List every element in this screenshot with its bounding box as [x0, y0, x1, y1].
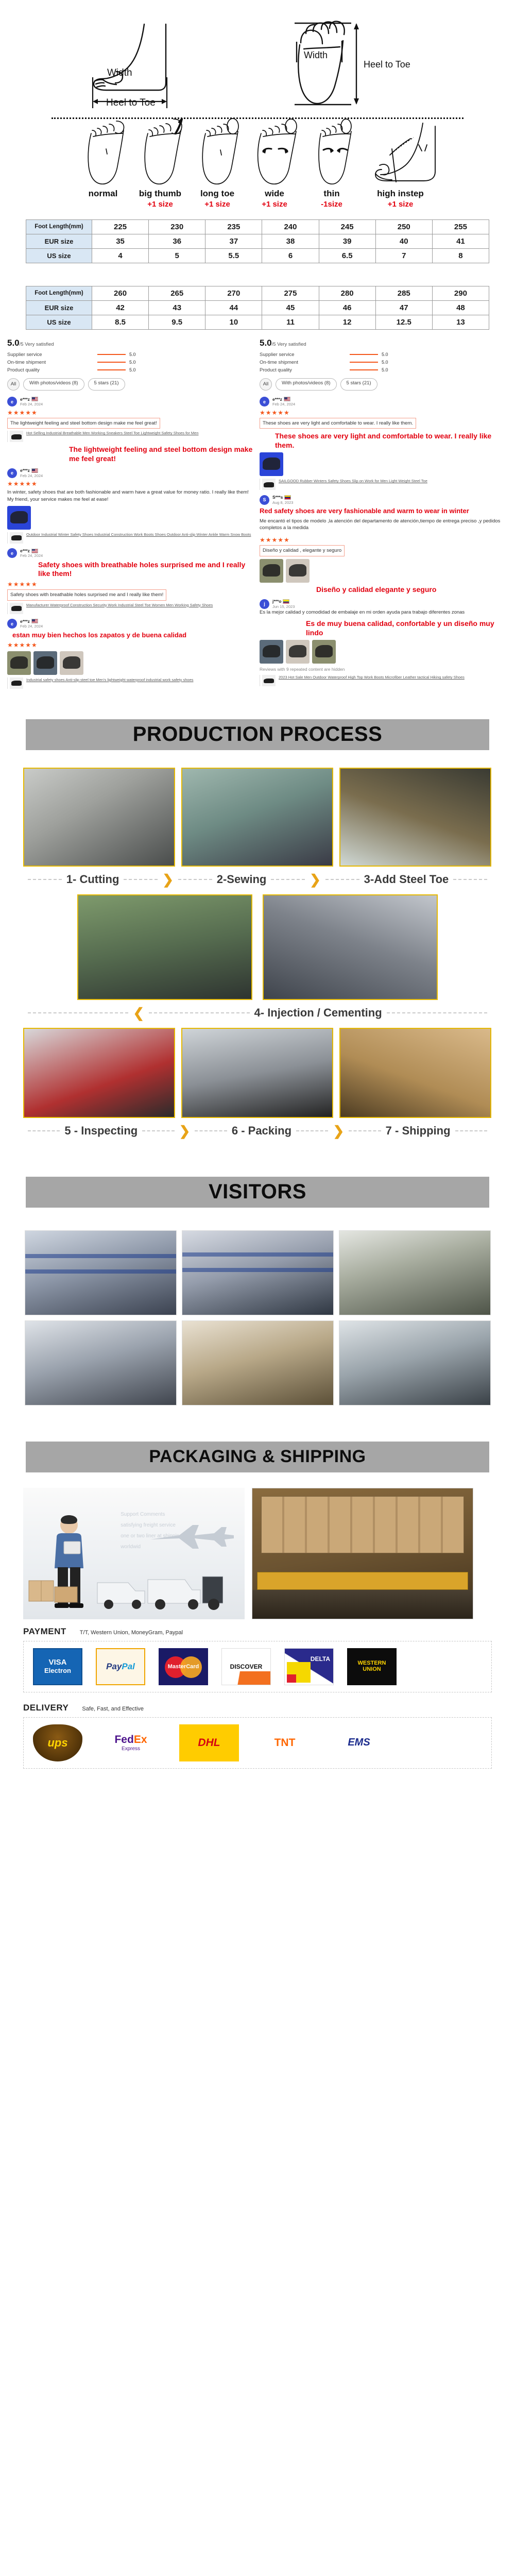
- cartons-icon: [28, 1570, 84, 1612]
- foot-type-adjust: +1 size: [191, 200, 245, 210]
- delivery-title: DELIVERY: [23, 1703, 68, 1713]
- reviewer-name-text: e***z: [20, 548, 30, 554]
- review-item: S S***s Aug 8, 2023 Red safety shoes are…: [260, 495, 507, 532]
- union-text: UNION: [363, 1667, 381, 1673]
- production-image-cementing: [263, 894, 438, 1000]
- foot-figures: [21, 118, 494, 188]
- flag-us-icon: [31, 468, 38, 473]
- foot-thin-icon: [305, 118, 359, 188]
- mastercard-text: MasterCard: [168, 1664, 199, 1670]
- step-label-inspecting: 5 - Inspecting: [64, 1124, 138, 1138]
- avatar: e: [7, 619, 17, 629]
- cell: 245: [319, 219, 375, 234]
- express-text: Express: [122, 1746, 140, 1752]
- production-steps-row-2: ❮ 4- Injection / Cementing: [23, 1006, 492, 1020]
- avatar: S: [260, 495, 269, 505]
- avatar: j: [260, 599, 269, 609]
- flag-us-icon: [31, 619, 38, 623]
- product-title[interactable]: Industrial safety shoes Anti-slip steel …: [26, 677, 194, 683]
- rating-metric: Product quality 5.0: [260, 367, 507, 373]
- chevron-right-icon: ❯: [310, 873, 321, 886]
- packaging-images-row: Support Comments satisfying freight serv…: [0, 1488, 515, 1619]
- cell: 4: [92, 248, 149, 263]
- payment-logos: VISA Electron PayPal MasterCard DISCOVER…: [23, 1641, 492, 1692]
- flag-us-icon: [284, 397, 290, 401]
- payment-header: PAYMENT T/T, Western Union, MoneyGram, P…: [23, 1626, 492, 1637]
- packaging-section: Support Comments satisfying freight serv…: [0, 1488, 515, 1769]
- production-steps-row-1: 1- Cutting ❯ 2-Sewing ❯ 3-Add Steel Toe: [23, 873, 492, 886]
- cell: 38: [262, 234, 319, 248]
- divider: [296, 1130, 328, 1131]
- visitors-section: [0, 1230, 515, 1405]
- divider: [142, 1130, 174, 1131]
- ems-logo-icon: EMS: [331, 1724, 387, 1761]
- cell: 13: [432, 315, 489, 329]
- row-header: Foot Length(mm): [26, 286, 92, 300]
- cell: 37: [205, 234, 262, 248]
- review-user: e e***z Feb 24, 2024: [7, 397, 254, 407]
- foot-type-name: thin: [305, 189, 359, 199]
- review-text: These shoes are very light and comfortab…: [260, 418, 416, 429]
- production-process-banner: PRODUCTION PROCESS: [26, 719, 489, 750]
- visitors-banner: VISITORS: [26, 1177, 489, 1208]
- cell: 39: [319, 234, 375, 248]
- cell: 46: [319, 300, 375, 315]
- production-image-injection: [77, 894, 252, 1000]
- reviewed-product-link[interactable]: SAILGOOD Rubber Winters Safety Shoes Sli…: [260, 479, 507, 490]
- hidden-reviews-note: Reviews with 9 repeated content are hidd…: [260, 667, 507, 672]
- foot-type-chart: normal big thumb long toe wide thin high…: [0, 117, 515, 210]
- review-item: e e***z Feb 24, 2024 Safety shoes with b…: [7, 548, 254, 614]
- metric-value: 5.0: [129, 360, 136, 365]
- review-date: Aug 8, 2023: [272, 500, 293, 505]
- review-user: e e***z Feb 24, 2024: [7, 619, 254, 629]
- payment-section: PAYMENT T/T, Western Union, MoneyGram, P…: [0, 1626, 515, 1692]
- review-item: e e***z Feb 24, 2024 estan muy bien hech…: [7, 619, 254, 689]
- divider: [149, 1012, 249, 1013]
- rating-metric: Supplier service 5.0: [260, 352, 507, 358]
- rating-score-suffix: /5 Very satisfied: [272, 342, 306, 347]
- cell: 270: [205, 286, 262, 300]
- delivery-logos: ups FedEx Express DHL TNT EMS: [23, 1717, 492, 1769]
- production-steps-row-3: 5 - Inspecting ❯ 6 - Packing ❯ 7 - Shipp…: [23, 1124, 492, 1138]
- rating-score: 5.0: [260, 338, 272, 348]
- review-date: Jun 15, 2023: [272, 604, 295, 609]
- foot-type-name: long toe: [191, 189, 245, 199]
- cell: 260: [92, 286, 149, 300]
- metric-value: 5.0: [382, 367, 388, 372]
- divider: [349, 1130, 381, 1131]
- cell: 10: [205, 315, 262, 329]
- shipping-illustration: Support Comments satisfying freight serv…: [23, 1488, 245, 1619]
- review-photo[interactable]: [33, 651, 57, 675]
- row-header: US size: [26, 315, 92, 329]
- cell: 43: [149, 300, 205, 315]
- cell: 280: [319, 286, 375, 300]
- visa-text: VISA: [48, 1658, 66, 1667]
- rating-metric: Product quality 5.0: [7, 367, 254, 373]
- review-photo[interactable]: [286, 559, 310, 583]
- dhl-text: DHL: [198, 1737, 220, 1749]
- cell: 8: [432, 248, 489, 263]
- product-thumb-icon: [10, 431, 23, 442]
- step-label-shipping: 7 - Shipping: [386, 1124, 451, 1138]
- rating-metrics: Supplier service 5.0 On-time shipment 5.…: [260, 352, 507, 373]
- metric-label: On-time shipment: [7, 360, 97, 365]
- reviewer-name-text: e***z: [20, 397, 30, 402]
- reviewer-name-text: j***o: [272, 599, 281, 604]
- step-label-cutting: 1- Cutting: [66, 873, 119, 886]
- table-row: Foot Length(mm) 225 230 235 240 245 250 …: [26, 219, 489, 234]
- tnt-text: TNT: [274, 1737, 296, 1749]
- production-images-row-3: [23, 1028, 492, 1118]
- review-photo[interactable]: [7, 651, 31, 675]
- divider: [178, 879, 212, 880]
- reviews-column-left: 5.0/5 Very satisfied Supplier service 5.…: [7, 338, 254, 693]
- review-stars: ★★★★★: [260, 536, 507, 544]
- size-table-1: Foot Length(mm) 225 230 235 240 245 250 …: [26, 219, 489, 263]
- size-table-2: Foot Length(mm) 260 265 270 275 280 285 …: [26, 286, 489, 330]
- avatar: e: [7, 468, 17, 478]
- pay-text: Pay: [106, 1662, 122, 1672]
- product-title[interactable]: Hot Selling Industrial Breathable Men Wo…: [26, 431, 199, 436]
- cell: 5.5: [205, 248, 262, 263]
- ems-text: EMS: [348, 1737, 370, 1749]
- metric-bar: [97, 354, 126, 355]
- foot-big-thumb-icon: [133, 118, 187, 188]
- review-photo[interactable]: [260, 559, 283, 583]
- cell: 47: [375, 300, 432, 315]
- chevron-right-icon: ❯: [333, 1124, 344, 1138]
- visitor-photo: [339, 1320, 491, 1405]
- loaded-container-photo: [252, 1488, 473, 1619]
- review-date: Feb 24, 2024: [20, 553, 43, 558]
- divider: [387, 1012, 487, 1013]
- rating-summary: 5.0/5 Very satisfied: [260, 338, 507, 348]
- production-image-inspecting: [23, 1028, 175, 1118]
- reviewer-name: e***z: [20, 548, 43, 554]
- review-date: Feb 24, 2024: [20, 624, 43, 629]
- metric-value: 5.0: [382, 352, 388, 357]
- step-label-packing: 6 - Packing: [232, 1124, 291, 1138]
- cell: 42: [92, 300, 149, 315]
- production-image-sewing: [181, 768, 333, 867]
- review-text: Diseño y calidad , elegante y seguro: [260, 545, 345, 556]
- production-process-section: 1- Cutting ❯ 2-Sewing ❯ 3-Add Steel Toe …: [0, 768, 515, 1138]
- delta-text: DELTA: [311, 1655, 330, 1663]
- production-images-row-2: [23, 894, 492, 1000]
- visitors-title: VISITORS: [209, 1180, 306, 1204]
- reviewer-name-text: e***z: [272, 397, 282, 402]
- review-date: Feb 24, 2024: [20, 402, 43, 406]
- foot-type-names: normal big thumb long toe wide thin high…: [21, 189, 494, 199]
- foot-measure-diagram: Width Heel to Toe: [0, 10, 515, 113]
- delivery-subtitle: Safe, Fast, and Effective: [82, 1706, 144, 1712]
- review-date: Feb 24, 2024: [272, 402, 295, 406]
- cell: 225: [92, 219, 149, 234]
- flag-ecuador-icon: [283, 599, 289, 604]
- metric-bar: [97, 362, 126, 363]
- production-images-row-1: [23, 768, 492, 867]
- reviewed-product-link[interactable]: Outdoor Industrial Winter Safety Shoes I…: [7, 532, 254, 544]
- top-foot-diagram: Width Heel to Toe: [288, 18, 443, 113]
- divider: [28, 1012, 128, 1013]
- cell: 36: [149, 234, 205, 248]
- tnt-logo-icon: TNT: [256, 1724, 313, 1761]
- fed-text: Fed: [114, 1734, 133, 1745]
- review-item: j j***o Jun 15, 2023 Es la mejor calidad…: [260, 599, 507, 686]
- cell: 275: [262, 286, 319, 300]
- reviewer-name: e***z: [20, 619, 43, 624]
- review-stars: ★★★★★: [7, 480, 254, 487]
- review-photo[interactable]: [312, 640, 336, 664]
- review-callout: These shoes are very light and comfortab…: [275, 432, 507, 450]
- cell: 255: [432, 219, 489, 234]
- delivery-vans-icon: [94, 1571, 223, 1612]
- product-detail-page: Width Heel to Toe: [0, 0, 515, 1800]
- review-photos: [260, 452, 507, 476]
- divider: [325, 879, 359, 880]
- product-thumb-icon: [262, 479, 276, 490]
- ex-text: Ex: [134, 1734, 147, 1745]
- ups-text: ups: [47, 1736, 67, 1750]
- review-photos: [7, 651, 254, 675]
- foot-type-name: normal: [76, 189, 130, 199]
- product-thumb-icon: [10, 532, 23, 544]
- metric-value: 5.0: [129, 367, 136, 372]
- electron-text: Electron: [44, 1667, 71, 1674]
- foot-type-name: high instep: [362, 189, 439, 199]
- table-row: US size 8.5 9.5 10 11 12 12.5 13: [26, 315, 489, 329]
- ups-logo-icon: ups: [33, 1724, 82, 1761]
- review-callout: Es de muy buena calidad, confortable y u…: [306, 619, 507, 637]
- flag-us-icon: [31, 397, 38, 401]
- ghost-line: Support Comments: [121, 1509, 182, 1520]
- review-user: S S***s Aug 8, 2023: [260, 495, 507, 505]
- review-callout: Diseño y calidad elegante y seguro: [316, 585, 507, 595]
- reviewer-name-text: S***s: [272, 495, 283, 500]
- cell: 45: [262, 300, 319, 315]
- cell: 48: [432, 300, 489, 315]
- review-text: Me encantó el tipos de modelo ,la atenci…: [260, 518, 507, 532]
- visitor-photo: [182, 1320, 334, 1405]
- rating-score-suffix: /5 Very satisfied: [20, 342, 54, 347]
- review-photo[interactable]: [60, 651, 83, 675]
- production-image-shipping: [339, 1028, 491, 1118]
- metric-bar: [350, 362, 378, 363]
- visa-electron-logo-icon: VISA Electron: [33, 1648, 82, 1685]
- review-callout: Red safety shoes are very fashionable an…: [260, 507, 507, 515]
- table-row: US size 4 5 5.5 6 6.5 7 8: [26, 248, 489, 263]
- product-title[interactable]: Manufacturer Waterproof Construction Sec…: [26, 603, 213, 608]
- heel-to-toe-label: Heel to Toe: [106, 97, 156, 108]
- metric-label: On-time shipment: [260, 360, 350, 365]
- product-title[interactable]: 2023 Hot Sale Men Outdoor Waterproof Hig…: [279, 675, 465, 681]
- chevron-right-icon: ❯: [162, 873, 174, 886]
- review-callout: Safety shoes with breathable holes surpr…: [38, 561, 254, 579]
- reviewer-name: j***o: [272, 599, 295, 604]
- filter-5-stars[interactable]: 5 stars (21): [88, 378, 125, 391]
- cell: 12: [319, 315, 375, 329]
- review-callout: The lightweight feeling and steel bottom…: [69, 445, 254, 463]
- review-user: j j***o Jun 15, 2023: [260, 599, 507, 609]
- product-title[interactable]: SAILGOOD Rubber Winters Safety Shoes Sli…: [279, 479, 427, 484]
- fedex-logo-icon: FedEx Express: [100, 1724, 162, 1761]
- review-photo[interactable]: [260, 640, 283, 664]
- cell: 8.5: [92, 315, 149, 329]
- dhl-logo-icon: DHL: [179, 1724, 239, 1761]
- packaging-title: PACKAGING & SHIPPING: [149, 1447, 366, 1467]
- review-stars: ★★★★★: [7, 581, 254, 588]
- payment-subtitle: T/T, Western Union, MoneyGram, Paypal: [80, 1630, 183, 1636]
- foot-normal-icon: [76, 118, 130, 188]
- review-item: ★★★★★ Diseño y calidad , elegante y segu…: [260, 536, 507, 594]
- cell: 5: [149, 248, 205, 263]
- reviewed-product-link[interactable]: Hot Selling Industrial Breathable Men Wo…: [7, 431, 254, 442]
- cell: 12.5: [375, 315, 432, 329]
- product-title[interactable]: Outdoor Industrial Winter Safety Shoes I…: [26, 532, 251, 538]
- avatar: e: [260, 397, 269, 406]
- cell: 240: [262, 219, 319, 234]
- review-photos: [260, 640, 507, 664]
- step-label-sewing: 2-Sewing: [217, 873, 267, 886]
- cell: 6: [262, 248, 319, 263]
- cell: 290: [432, 286, 489, 300]
- cell: 250: [375, 219, 432, 234]
- cell: 44: [205, 300, 262, 315]
- cell: 9.5: [149, 315, 205, 329]
- delivery-header: DELIVERY Safe, Fast, and Effective: [23, 1703, 492, 1713]
- filter-5-stars[interactable]: 5 stars (21): [340, 378, 377, 391]
- product-thumb-icon: [262, 675, 276, 686]
- step-label-injection-cementing: 4- Injection / Cementing: [254, 1006, 382, 1020]
- review-item: e e***z Feb 24, 2024 ★★★★★ These shoes a…: [260, 397, 507, 490]
- reviews-column-right: 5.0/5 Very satisfied Supplier service 5.…: [260, 338, 507, 693]
- review-date: Feb 24, 2024: [20, 473, 43, 478]
- row-header: US size: [26, 248, 92, 263]
- metric-value: 5.0: [382, 360, 388, 365]
- review-stars: ★★★★★: [7, 641, 254, 649]
- metric-label: Product quality: [260, 367, 350, 373]
- production-image-steel-toe: [339, 768, 491, 867]
- delta-logo-icon: DELTA: [284, 1648, 334, 1685]
- avatar: e: [7, 548, 17, 558]
- review-photo[interactable]: [260, 452, 283, 476]
- filter-all[interactable]: All: [7, 378, 20, 391]
- flag-us-icon: [31, 549, 38, 553]
- visitor-photo: [182, 1230, 334, 1315]
- reviews-section: 5.0/5 Very satisfied Supplier service 5.…: [0, 330, 515, 699]
- product-thumb-icon: [10, 677, 23, 689]
- filter-all[interactable]: All: [260, 378, 272, 391]
- divider: [455, 1130, 487, 1131]
- rating-metrics: Supplier service 5.0 On-time shipment 5.…: [7, 352, 254, 373]
- visitor-photo: [25, 1230, 177, 1315]
- cell: 235: [205, 219, 262, 234]
- step-label-add-steel-toe: 3-Add Steel Toe: [364, 873, 449, 886]
- review-photos: [260, 559, 507, 583]
- review-photos: [7, 506, 254, 530]
- discover-text: DISCOVER: [230, 1663, 263, 1670]
- rating-metric: Supplier service 5.0: [7, 352, 254, 358]
- cell: 40: [375, 234, 432, 248]
- foot-long-toe-icon: [191, 118, 245, 188]
- foot-type-name: big thumb: [133, 189, 187, 199]
- chevron-left-icon: ❮: [133, 1006, 144, 1020]
- filter-with-photos[interactable]: With photos/videos (8): [23, 378, 84, 391]
- metric-label: Supplier service: [260, 352, 350, 358]
- review-photo[interactable]: [7, 506, 31, 530]
- avatar: e: [7, 397, 17, 406]
- review-photo[interactable]: [286, 640, 310, 664]
- metric-label: Product quality: [7, 367, 97, 373]
- heel-to-toe-label-top: Heel to Toe: [364, 59, 410, 70]
- review-user: e e***z Feb 24, 2024: [7, 548, 254, 558]
- reviewed-product-link[interactable]: Industrial safety shoes Anti-slip steel …: [7, 677, 254, 689]
- foot-type-adjust: +1 size: [248, 200, 302, 210]
- width-label: Width: [107, 67, 132, 78]
- review-callout: estan muy bien hechos los zapatos y de b…: [12, 631, 254, 639]
- divider: [271, 879, 305, 880]
- reviewer-name: e***z: [20, 468, 43, 473]
- divider: [124, 879, 158, 880]
- delivery-section: DELIVERY Safe, Fast, and Effective ups F…: [0, 1703, 515, 1769]
- cell: 41: [432, 234, 489, 248]
- review-filters: All With photos/videos (8) 5 stars (21): [260, 378, 507, 391]
- flag-venezuela-icon: [284, 495, 291, 500]
- size-guide-section: Width Heel to Toe: [0, 0, 515, 330]
- production-image-packing: [181, 1028, 333, 1118]
- review-filters: All With photos/videos (8) 5 stars (21): [7, 378, 254, 391]
- metric-bar: [350, 369, 378, 371]
- reviewed-product-link[interactable]: 2023 Hot Sale Men Outdoor Waterproof Hig…: [260, 675, 507, 686]
- paypal-logo-icon: PayPal: [96, 1648, 145, 1685]
- review-item: e e***z Feb 24, 2024 ★★★★★ The lightweig…: [7, 397, 254, 464]
- metric-label: Supplier service: [7, 352, 97, 358]
- pal-text: Pal: [122, 1662, 135, 1672]
- cell: 7: [375, 248, 432, 263]
- payment-title: PAYMENT: [23, 1626, 66, 1637]
- divider: [28, 879, 62, 880]
- divider: [453, 879, 487, 880]
- rating-metric: On-time shipment 5.0: [7, 360, 254, 365]
- reviewer-name-text: e***z: [20, 619, 30, 624]
- reviewer-name-text: e***z: [20, 468, 30, 473]
- rating-metric: On-time shipment 5.0: [260, 360, 507, 365]
- foot-type-adjustments: +1 size +1 size +1 size -1size +1 size: [21, 200, 494, 210]
- foot-wide-icon: [248, 118, 302, 188]
- foot-type-adjust: -1size: [305, 200, 359, 210]
- review-text: Es la mejor calidad y comodidad de embal…: [260, 609, 507, 616]
- visitors-photo-grid: [0, 1230, 515, 1405]
- row-header: EUR size: [26, 234, 92, 248]
- production-process-title: PRODUCTION PROCESS: [133, 723, 383, 746]
- mastercard-logo-icon: MasterCard: [159, 1648, 208, 1685]
- rating-score: 5.0: [7, 338, 20, 348]
- foot-type-name: wide: [248, 189, 302, 199]
- foot-type-adjust: +1 size: [133, 200, 187, 210]
- filter-with-photos[interactable]: With photos/videos (8): [276, 378, 337, 391]
- foot-high-instep-icon: [362, 118, 439, 188]
- review-text: In winter, safety shoes that are both fa…: [7, 489, 254, 503]
- review-text: The lightweight feeling and steel bottom…: [7, 418, 160, 429]
- metric-bar: [97, 369, 126, 371]
- reviewed-product-link[interactable]: Manufacturer Waterproof Construction Sec…: [7, 603, 254, 614]
- reviewer-name: e***z: [20, 397, 43, 402]
- cell: 11: [262, 315, 319, 329]
- row-header: Foot Length(mm): [26, 219, 92, 234]
- table-row: Foot Length(mm) 260 265 270 275 280 285 …: [26, 286, 489, 300]
